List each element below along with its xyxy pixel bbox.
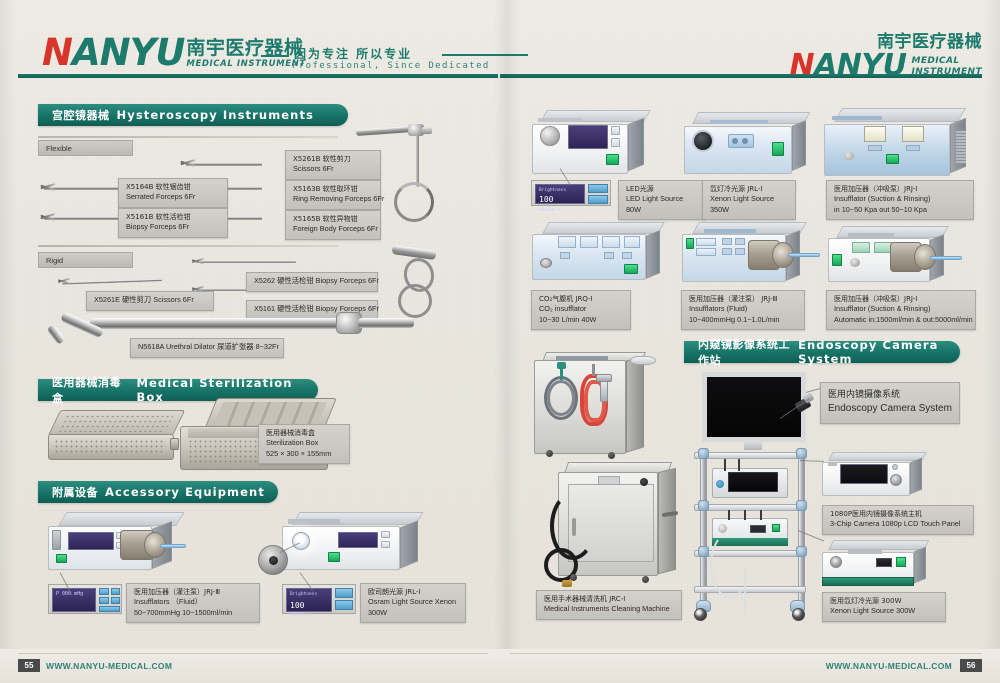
caption-co2-en: CO₂ insufflator <box>539 304 624 315</box>
tower-shelf-1 <box>694 452 806 459</box>
header-rule-right <box>500 74 982 78</box>
tower-cable-1 <box>724 459 726 471</box>
device-insufflator-fluid-2-btn-1[interactable] <box>722 238 732 245</box>
device-co2-btn-1[interactable] <box>560 252 570 259</box>
caption-x5161b: X5161B 软性活检钳 Biopsy Forceps 6Fr <box>118 208 228 238</box>
readout-osram-value: 100 <box>290 601 304 610</box>
device-led-brandstrip <box>538 118 582 122</box>
tower-joint-4 <box>796 500 807 511</box>
caption-sterilization-cn: 医用器械消毒盒 <box>266 428 343 438</box>
instrument-jaw-x5161b <box>40 212 56 223</box>
cleaning-machine-hose-fitting <box>562 580 572 587</box>
caption-camera-system-en: Endoscopy Camera System <box>828 402 952 417</box>
caption-insufflator-fluid-2-spec: 10~400mmHg 0.1~1.0L/min <box>689 315 798 326</box>
tower-cable-5 <box>760 510 762 520</box>
caption-x5163b: X5163B 软性取环钳 Ring Removing Forceps 6Fr <box>285 180 381 210</box>
device-osram-light-port <box>292 532 310 550</box>
device-led-side <box>628 118 644 171</box>
section-header-camera-system-en: Endoscopy Camera System <box>798 338 960 366</box>
caption-insufflator-suction-1-en: Insufflator (Suction & Rinsing) <box>834 194 967 205</box>
tower-shelf-2 <box>694 504 806 511</box>
cleaning-machine-caster-left <box>570 574 577 581</box>
caption-xenon-cn: 氙灯冷光源 JRL-Ⅰ <box>710 184 789 194</box>
readout-led-unit: % <box>558 208 561 213</box>
readout-btn-wide[interactable] <box>99 606 120 612</box>
cleaning-machine-caster-right <box>642 576 649 583</box>
device-insufflator-suction-1-display-2 <box>902 126 924 142</box>
caption-x5164b: X5164B 软性锯齿钳 Serrated Forceps 6Fr <box>118 178 228 208</box>
caption-insufflator-fluid-2-cn: 医用加压器（灌注泵） JRJ-Ⅲ <box>689 294 798 304</box>
device-co2-display-2 <box>580 236 598 248</box>
caption-xenon-300w-cn: 医用氙灯冷光源 300W <box>830 596 939 606</box>
caption-sterilization-en: Sterilization Box <box>266 438 343 449</box>
flexible-scope-connector <box>422 127 432 134</box>
section-header-accessory: 附属设备 Accessory Equipment <box>38 481 278 503</box>
device-co2-btn-2[interactable] <box>604 252 614 259</box>
device-led-power-led <box>606 154 619 165</box>
readout-btn-down-1[interactable] <box>99 597 109 604</box>
device-xenon-side <box>792 120 806 171</box>
device-co2-btn-3[interactable] <box>622 252 632 259</box>
device-xenon-300w-top <box>828 540 929 550</box>
caption-insufflator-fluid-spec: 50~700mmHg 10~1500ml/min <box>134 608 253 619</box>
caption-osram-cn: 欧司朗光源 JRL-Ⅰ <box>368 587 459 597</box>
device-xenon-light-port <box>692 130 714 152</box>
device-insufflator-suction-1-display-1 <box>864 126 886 142</box>
tower-joint-1 <box>698 448 709 459</box>
readout-osram-unit: % <box>309 613 312 618</box>
device-instrument-washer <box>534 352 654 464</box>
brand-wordmark-rest: ANYU <box>72 31 184 74</box>
caption-osram: 欧司朗光源 JRL-Ⅰ Osram Light Source Xenon 300… <box>360 583 466 623</box>
section-header-hysteroscopy-cn: 宫腔镜器械 <box>52 107 110 123</box>
washer-hose-red-stem <box>592 364 595 376</box>
device-osram-screen <box>338 532 378 548</box>
tower-light-source-led <box>772 524 780 532</box>
device-insufflator-fluid-left-panel <box>52 530 61 550</box>
device-xenon-light-source <box>684 112 810 178</box>
device-insufflator-fluid-2-tube <box>788 253 820 257</box>
divider-flexible-top <box>38 136 338 138</box>
readout-osram-sub: 0000nm <box>290 613 306 618</box>
caption-insufflator-fluid: 医用加压器（灌注泵）JRJ-Ⅲ Insufflators （Fluid） 50~… <box>126 583 260 623</box>
section-header-camera-system: 内窥镜影像系统工作站 Endoscopy Camera System <box>684 341 960 363</box>
instrument-jaw-x5261b <box>180 158 196 169</box>
tower-joint-2 <box>796 448 807 459</box>
device-instrument-washer-side <box>626 355 644 452</box>
caption-x5261b: X5261B 软性剪刀 Scissors 6Fr <box>285 150 381 180</box>
caption-insufflator-fluid-2-en: Insufflators (Fluid) <box>689 304 798 315</box>
urethral-dilator-handle <box>358 318 414 328</box>
divider-rigid-top <box>38 245 338 247</box>
caption-x5262: X5262 硬性活检钳 Biopsy Forceps 6Fr <box>246 272 378 292</box>
caption-osram-spec: 300W <box>368 608 459 619</box>
device-insufflator-fluid-screen <box>68 532 114 550</box>
device-insufflator-suction-2-tube <box>930 256 962 260</box>
caption-led-cn: LED光源 <box>626 184 699 194</box>
instrument-jaw-x5261e <box>58 277 71 286</box>
tower-light-guide-cable-2 <box>744 568 746 614</box>
device-insufflator-suction-1-brandstrip <box>832 116 882 120</box>
device-camera-host <box>822 452 932 498</box>
device-xenon-300w-brandstrip <box>848 550 882 554</box>
device-co2-display-3 <box>602 236 620 248</box>
caption-insufflator-fluid-en: Insufflators （Fluid） <box>134 597 253 608</box>
device-insufflator-suction-2-display-1 <box>852 242 870 253</box>
washer-hose-gray-coil-2 <box>547 380 575 416</box>
readout-insufflator-label: P <box>56 591 59 597</box>
caption-xenon-spec: 350W <box>710 205 789 216</box>
readout-btn-down-2[interactable] <box>111 597 120 604</box>
group-label-rigid: Rigid <box>38 252 133 268</box>
device-co2-side <box>646 230 660 279</box>
page-edge-left <box>0 0 16 683</box>
device-insufflator-suction-1-btn-2[interactable] <box>906 145 920 151</box>
page-number-right: 56 <box>960 659 982 672</box>
device-insufflator-suction-1-btn-1[interactable] <box>868 145 882 151</box>
washer-basin <box>630 356 656 365</box>
group-label-flexible: Flexible <box>38 140 133 156</box>
flexible-scope-cable <box>416 135 419 187</box>
device-insufflator-fluid <box>48 512 188 574</box>
tagline-en: Professional, Since Dedicated <box>292 61 490 71</box>
urethral-dilator-shaft <box>90 318 340 329</box>
readout-led-btn-down[interactable] <box>588 195 608 204</box>
footer-rule-left <box>18 653 488 654</box>
device-cleaning-machine-label <box>598 476 620 485</box>
device-xenon-300w-green-band <box>822 577 914 586</box>
device-osram-btn-down[interactable] <box>381 541 390 548</box>
sterilization-box-lid-perforations <box>58 414 175 432</box>
tower-joint-3 <box>698 500 709 511</box>
urethral-dilator-tip <box>46 324 65 345</box>
caption-x5163b-cn: X5163B 软性取环钳 <box>293 184 374 194</box>
device-insufflator-fluid-2 <box>682 222 824 286</box>
caption-insufflator-suction-2: 医用加压器（冲吸泵）JRJ-Ⅰ Insufflator (Suction & R… <box>826 290 976 330</box>
device-osram-side <box>400 520 418 568</box>
device-instrument-washer-brandstrip <box>556 356 608 360</box>
caption-led-light-source: LED光源 LED Light Source 80W <box>618 180 706 220</box>
washer-hose-gray-hanger <box>557 362 566 369</box>
device-insufflator-fluid-2-btn-4[interactable] <box>735 248 745 255</box>
tower-cable-2 <box>738 459 740 471</box>
device-insufflator-suction-2-power-led <box>832 254 842 266</box>
device-insufflator-fluid-2-btn-3[interactable] <box>722 248 732 255</box>
device-led-btn-up[interactable] <box>611 126 620 135</box>
readout-osram-label: Brightness <box>290 592 317 597</box>
device-insufflator-fluid-power-led <box>56 554 67 563</box>
caption-co2-insufflator: CO₂气腹机 JRQ-Ⅰ CO₂ insufflator 10~30 L/min… <box>531 290 631 330</box>
caption-camera-host-en: 3-Chip Camera 1080p LCD Touch Panel <box>830 519 967 530</box>
device-insufflator-suction-2-brandstrip <box>848 233 894 237</box>
caption-x5164b-cn: X5164B 软性锯齿钳 <box>126 182 221 192</box>
device-cleaning-machine <box>558 462 684 588</box>
readout-led-btn-up[interactable] <box>588 184 608 193</box>
readout-led-value: 100 <box>539 195 553 204</box>
caption-led-spec: 80W <box>626 205 699 216</box>
device-led-btn-down[interactable] <box>611 138 620 147</box>
readout-panel-insufflator: P 000 mHg <box>48 584 122 614</box>
tower-monitor <box>702 372 806 442</box>
caption-insufflator-suction-1-spec: in 10~50 Kpa out 50~10 Kpa <box>834 205 967 216</box>
device-camera-host-label <box>828 462 837 466</box>
section-header-accessory-en: Accessory Equipment <box>105 485 265 499</box>
tagline-rule-left <box>261 55 289 57</box>
device-insufflator-fluid-2-btn-2[interactable] <box>735 238 745 245</box>
caption-x5261e: X5261E 硬性剪刀 Scissors 6Fr <box>86 291 214 311</box>
sterilization-box-latch <box>170 438 179 450</box>
caption-camera-host: 1080P医用内镜摄像系统主机 3-Chip Camera 1080p LCD … <box>822 505 974 535</box>
device-insufflator-suction-1 <box>824 108 974 180</box>
device-xenon-300w-power-led <box>896 557 906 567</box>
device-cleaning-machine-knob[interactable] <box>640 478 648 486</box>
device-insufflator-suction-2 <box>828 226 978 286</box>
website-url-right[interactable]: WWW.NANYU-MEDICAL.COM <box>826 661 952 671</box>
tower-cable-4 <box>744 510 746 520</box>
readout-insufflator-unit: mHg <box>74 591 83 597</box>
flexible-scope-loop <box>394 182 434 222</box>
sterilization-box-body-perforations <box>54 439 166 453</box>
tower-joint-6 <box>796 546 807 557</box>
tagline-rule-right <box>442 54 528 56</box>
caption-xenon-light-source: 氙灯冷光源 JRL-Ⅰ Xenon Light Source 350W <box>702 180 796 220</box>
caption-insufflator-fluid-cn: 医用加压器（灌注泵）JRJ-Ⅲ <box>134 587 253 597</box>
catalog-page: NANYU 南宇医疗器械 MEDICAL INSTRUMENT 因为专注 所以专… <box>0 0 1000 683</box>
caption-sterilization-dim: 525 × 300 × 155mm <box>266 449 343 460</box>
brand-subtitle-line1: MEDICAL <box>911 56 982 66</box>
device-led-screen <box>568 125 608 149</box>
washer-spray-gun <box>600 380 608 402</box>
device-co2-display-4 <box>624 236 640 248</box>
device-insufflator-fluid-2-brandstrip <box>704 229 756 233</box>
caption-x5261b-cn: X5261B 软性剪刀 <box>293 154 374 164</box>
device-co2-power-led <box>624 264 638 274</box>
caption-x5261b-en: Scissors 6Fr <box>293 164 374 175</box>
instrument-shaft-x5261e <box>62 279 162 284</box>
device-cleaning-machine-side <box>658 468 676 574</box>
washer-caster-right <box>608 452 615 459</box>
caption-cleaning-machine: 医用手术器械清洗机 JRC-Ⅰ Medical Instruments Clea… <box>536 590 682 620</box>
device-insufflator-fluid-2-display-2 <box>696 248 716 256</box>
device-co2-insufflator <box>532 222 668 284</box>
website-url-left[interactable]: WWW.NANYU-MEDICAL.COM <box>46 661 172 671</box>
caption-xenon-en: Xenon Light Source <box>710 194 789 205</box>
tower-joint-5 <box>698 546 709 557</box>
tower-post-left <box>700 454 707 606</box>
tower-cable-3 <box>728 510 730 520</box>
device-xenon-power-led <box>772 142 784 156</box>
readout-led-sub: 0000nm <box>539 208 555 213</box>
device-insufflator-fluid-tube <box>160 544 186 548</box>
device-co2-top <box>542 222 665 234</box>
device-insufflator-suction-2-port <box>850 258 860 267</box>
page-number-left: 55 <box>18 659 40 672</box>
caption-insufflator-suction-2-cn: 医用加压器（冲吸泵）JRJ-Ⅰ <box>834 294 969 304</box>
caption-cleaning-machine-en: Medical Instruments Cleaning Machine <box>544 604 675 615</box>
device-xenon-300w-display <box>876 558 892 567</box>
rigid-scissors-ring-lower <box>398 284 432 318</box>
section-header-camera-system-cn: 内窥镜影像系统工作站 <box>698 336 791 368</box>
caption-x5164b-en: Serrated Forceps 6Fr <box>126 192 221 203</box>
caption-x5261e-text: X5261E 硬性剪刀 Scissors 6Fr <box>94 295 207 306</box>
caption-xenon-300w: 医用氙灯冷光源 300W Xenon Light Source 300W <box>822 592 946 622</box>
device-xenon-btn-1[interactable] <box>732 138 738 144</box>
device-led-knob[interactable] <box>540 126 560 146</box>
tower-monitor-neck <box>744 442 762 450</box>
caption-sterilization-box: 医用器械消毒盒 Sterilization Box 525 × 300 × 15… <box>258 424 350 464</box>
readout-btn-up-1[interactable] <box>99 588 109 595</box>
caption-insufflator-suction-2-spec: Automatic in:1500ml/min & out:5000ml/min <box>834 315 969 326</box>
page-spine <box>494 0 520 683</box>
footer-bar: 55 WWW.NANYU-MEDICAL.COM WWW.NANYU-MEDIC… <box>0 649 1000 683</box>
caption-co2-cn: CO₂气腹机 JRQ-Ⅰ <box>539 294 624 304</box>
section-header-hysteroscopy-en: Hysteroscopy Instruments <box>117 108 315 122</box>
brand-logo-left: NANYU 南宇医疗器械 MEDICAL INSTRUMENT <box>42 36 306 70</box>
device-insufflator-suction-1-power-led <box>886 154 899 164</box>
device-co2-gas-port <box>540 258 552 268</box>
caption-cleaning-machine-cn: 医用手术器械清洗机 JRC-Ⅰ <box>544 594 675 604</box>
readout-osram-btn-down[interactable] <box>335 600 353 610</box>
instrument-jaw-x5262 <box>192 257 205 266</box>
brand-subtitle-en: MEDICAL INSTRUMENT <box>186 59 305 69</box>
device-camera-host-side <box>910 458 922 495</box>
tower-wheel-right <box>792 608 805 621</box>
device-osram-power-led <box>328 552 340 562</box>
tower-camera-control-unit-knob[interactable] <box>716 480 724 488</box>
caption-camera-system-cn: 医用内镜摄像系统 <box>828 389 952 402</box>
device-insufflator-suction-1-front <box>824 124 950 176</box>
device-camera-host-btn[interactable] <box>892 464 898 470</box>
caption-xenon-300w-en: Xenon Light Source 300W <box>830 606 939 617</box>
washer-spray-gun-head <box>596 374 612 382</box>
device-camera-host-connector <box>890 474 902 486</box>
instrument-jaw-x5164b <box>40 182 56 193</box>
fiber-optic-connector-core <box>269 556 278 565</box>
device-insufflator-fluid-2-power-led <box>686 238 694 249</box>
caption-x5165b-cn: X5165B 软性异物钳 <box>293 214 374 224</box>
section-header-sterilization-cn: 医用器械消毒盒 <box>52 374 129 406</box>
device-osram-brandstrip <box>288 519 340 524</box>
caption-camera-system: 医用内镜摄像系统 Endoscopy Camera System <box>820 382 960 424</box>
tower-light-source-display <box>750 525 766 533</box>
caption-x5262-text: X5262 硬性活检钳 Biopsy Forceps 6Fr <box>254 276 371 287</box>
device-xenon-300w <box>822 540 934 588</box>
device-insufflator-fluid-2-display-1 <box>696 238 716 246</box>
instrument-shaft-x5262 <box>196 261 296 263</box>
header-rule-left <box>18 74 498 78</box>
footer-rule-right <box>510 653 982 654</box>
device-xenon-brandstrip <box>710 120 768 124</box>
tagline-cn: 因为专注 所以专业 <box>294 45 412 62</box>
device-camera-host-touch-panel[interactable] <box>840 464 888 484</box>
device-osram-light-source <box>282 512 432 574</box>
tower-shelf-4 <box>694 586 806 593</box>
section-header-accessory-cn: 附属设备 <box>52 484 98 500</box>
instrument-shaft-x5261b <box>186 163 262 166</box>
device-co2-display-1 <box>558 236 576 248</box>
caption-x5165b: X5165B 软性异物钳 Foreign Body Forceps 6Fr <box>285 210 381 240</box>
readout-panel-osram: Brightness 100 0000nm % <box>282 584 356 614</box>
brand-initial: N <box>42 31 72 74</box>
page-edge-right <box>984 0 1000 683</box>
caption-co2-spec: 10~30 L/min 40W <box>539 315 624 326</box>
brand-logo-right: 南宇医疗器械 NANYU MEDICAL INSTRUMENT <box>789 34 982 79</box>
tower-camera-control-unit-screen <box>728 472 778 492</box>
caption-x5161b-en: Biopsy Forceps 6Fr <box>126 222 221 233</box>
readout-panel-led: Brightness 100 0000nm % <box>531 180 611 206</box>
caption-led-en: LED Light Source <box>626 194 699 205</box>
readout-btn-up-2[interactable] <box>111 588 120 595</box>
caption-x5163b-en: Ring Removing Forceps 6Fr <box>293 194 374 205</box>
section-header-hysteroscopy: 宫腔镜器械 Hysteroscopy Instruments <box>38 104 348 126</box>
caption-x5161b-cn: X5161B 软性活检钳 <box>126 212 221 222</box>
device-xenon-300w-side <box>914 547 926 584</box>
washer-caster-left <box>546 450 553 457</box>
flexible-scope-shaft <box>356 126 414 136</box>
device-insufflator-suction-1-port <box>844 152 854 160</box>
device-camera-host-top <box>828 452 927 461</box>
tower-wheel-left <box>694 608 707 621</box>
brand-wordmark: NANYU <box>42 36 184 70</box>
caption-n5618a-text: N5618A Urethral Dilator 尿道扩张器 8~32Fr <box>138 342 277 353</box>
device-xenon-300w-light-port <box>830 556 842 568</box>
sterilization-box-closed <box>48 410 188 472</box>
readout-osram-btn-up[interactable] <box>335 588 353 598</box>
caption-camera-host-cn: 1080P医用内镜摄像系统主机 <box>830 509 967 519</box>
caption-x5165b-en: Foreign Body Forceps 6Fr <box>293 224 374 235</box>
device-insufflator-suction-1-vent <box>956 130 966 164</box>
device-xenon-btn-2[interactable] <box>742 138 748 144</box>
device-led-light-source <box>532 110 652 178</box>
caption-insufflator-suction-1: 医用加压器（冲吸泵）JRJ-Ⅰ Insufflator (Suction & R… <box>826 180 974 220</box>
readout-led-label: Brightness <box>539 188 566 193</box>
caption-osram-en: Osram Light Source Xenon <box>368 597 459 608</box>
caption-n5618a: N5618A Urethral Dilator 尿道扩张器 8~32Fr <box>130 338 284 358</box>
caption-insufflator-suction-2-en: Insufflator (Suction & Rinsing) <box>834 304 969 315</box>
caption-insufflator-suction-1-cn: 医用加压器（冲吸泵）JRJ-Ⅰ <box>834 184 967 194</box>
caption-insufflator-fluid-2: 医用加压器（灌注泵） JRJ-Ⅲ Insufflators (Fluid) 10… <box>681 290 805 330</box>
device-osram-btn-up[interactable] <box>381 531 390 538</box>
